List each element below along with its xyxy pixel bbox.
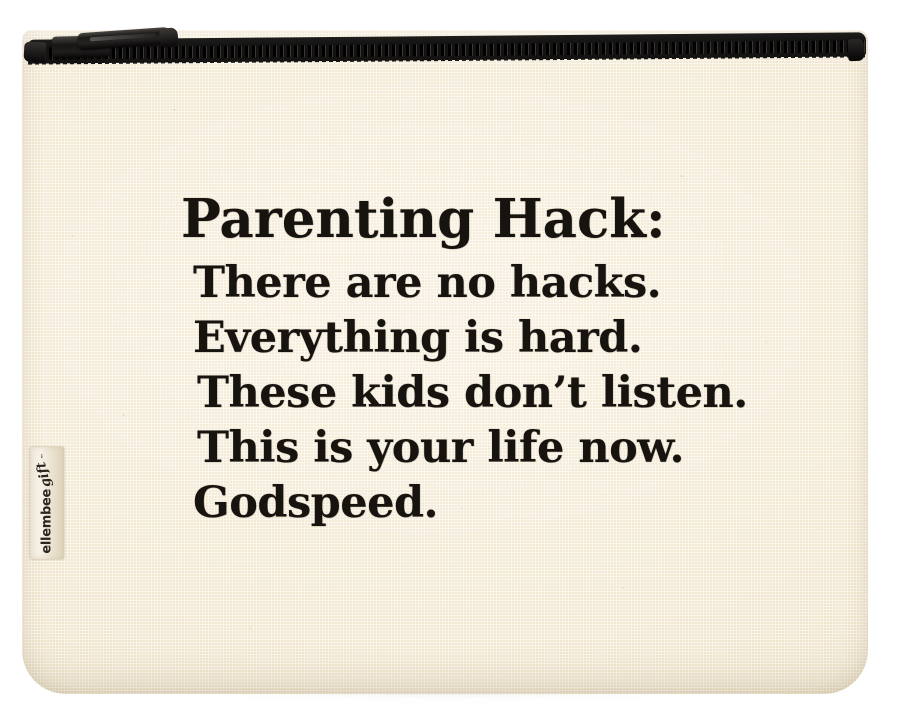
- zipper[interactable]: [20, 22, 870, 62]
- zipper-end-stop: [848, 39, 865, 62]
- print-line-3: These kids don’t listen.: [197, 368, 748, 418]
- print-title: Parenting Hack:: [181, 188, 666, 250]
- print-line-5: Godspeed.: [193, 478, 438, 528]
- print-line-4: This is your life now.: [197, 423, 684, 473]
- print-line-1: There are no hacks.: [193, 258, 661, 308]
- brand-script-text: gift: [34, 460, 55, 489]
- brand-tag: ellembee gift ™: [30, 447, 64, 559]
- trademark-symbol: ™: [41, 453, 48, 459]
- product-photo-scene: ellembee gift ™ Parenting Hack: There ar…: [0, 0, 900, 708]
- brand-name-text: ellembee: [40, 489, 55, 554]
- zipper-left-stop: [23, 41, 46, 62]
- print-line-2: Everything is hard.: [193, 313, 642, 363]
- brand-tag-inner: ellembee gift ™: [40, 453, 55, 553]
- zipper-pull-tip: [159, 27, 179, 48]
